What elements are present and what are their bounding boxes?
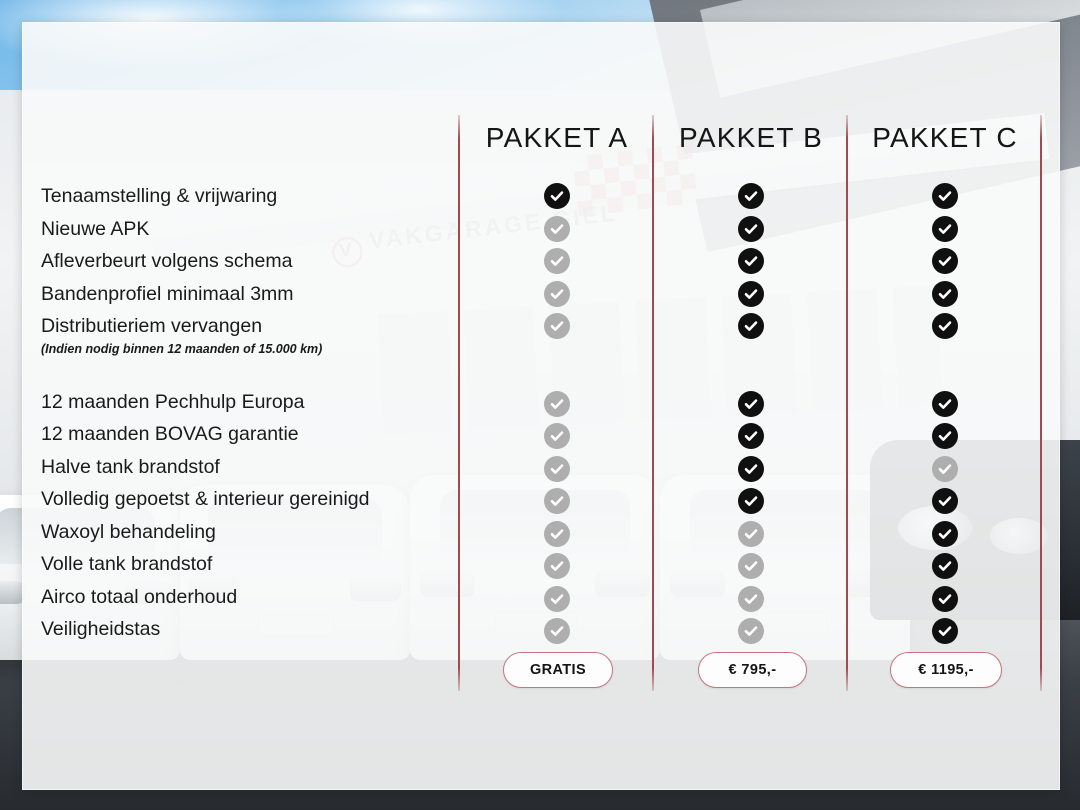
check-included-icon [932, 216, 958, 242]
check-included-icon [932, 553, 958, 579]
check-excluded-icon [544, 281, 570, 307]
check-excluded-icon [544, 586, 570, 612]
check-cell [543, 583, 571, 616]
check-cell [737, 245, 765, 278]
check-cell [737, 180, 765, 213]
check-cell [931, 420, 959, 453]
check-column-a [543, 180, 571, 648]
check-cell [931, 180, 959, 213]
check-included-icon [932, 586, 958, 612]
check-included-icon [932, 391, 958, 417]
check-cell [931, 453, 959, 486]
package-header-c: PAKKET C [831, 122, 1059, 154]
check-excluded-icon [544, 553, 570, 579]
check-included-icon [738, 391, 764, 417]
check-included-icon [932, 313, 958, 339]
column-divider-4 [1040, 115, 1042, 691]
check-included-icon [738, 423, 764, 449]
feature-label: 12 maanden BOVAG garantie [41, 418, 461, 451]
group-separator [41, 357, 461, 386]
note-row-spacer [931, 343, 959, 359]
check-cell [931, 388, 959, 421]
check-cell [543, 615, 571, 648]
check-included-icon [738, 456, 764, 482]
column-divider-2 [652, 115, 654, 691]
check-cell [931, 583, 959, 616]
check-excluded-icon [544, 248, 570, 274]
feature-label: Distributieriem vervangen [41, 310, 461, 343]
group-row-spacer [543, 359, 571, 388]
feature-label: Afleverbeurt volgens schema [41, 245, 461, 278]
check-cell [737, 485, 765, 518]
check-excluded-icon [738, 521, 764, 547]
check-included-icon [738, 216, 764, 242]
check-excluded-icon [544, 521, 570, 547]
check-column-b [737, 180, 765, 648]
check-excluded-icon [738, 553, 764, 579]
check-cell [737, 310, 765, 343]
check-included-icon [544, 183, 570, 209]
check-cell [737, 615, 765, 648]
check-excluded-icon [544, 618, 570, 644]
check-cell [543, 278, 571, 311]
check-cell [543, 180, 571, 213]
check-included-icon [738, 281, 764, 307]
check-cell [931, 485, 959, 518]
check-excluded-icon [932, 456, 958, 482]
check-cell [737, 583, 765, 616]
check-included-icon [932, 521, 958, 547]
check-column-c [931, 180, 959, 648]
check-excluded-icon [544, 488, 570, 514]
check-cell [543, 420, 571, 453]
feature-label: Bandenprofiel minimaal 3mm [41, 278, 461, 311]
feature-list: Tenaamstelling & vrijwaring Nieuwe APK A… [41, 180, 461, 646]
check-included-icon [738, 183, 764, 209]
feature-label: Nieuwe APK [41, 213, 461, 246]
check-cell [737, 550, 765, 583]
check-cell [931, 245, 959, 278]
check-cell [737, 278, 765, 311]
feature-label: Tenaamstelling & vrijwaring [41, 180, 461, 213]
check-cell [543, 485, 571, 518]
check-included-icon [932, 423, 958, 449]
check-included-icon [932, 281, 958, 307]
check-included-icon [932, 488, 958, 514]
check-included-icon [932, 183, 958, 209]
check-cell [931, 550, 959, 583]
check-cell [543, 453, 571, 486]
price-button-c[interactable]: € 1195,- [890, 652, 1002, 688]
check-cell [737, 388, 765, 421]
feature-label: Volledig gepoetst & interieur gereinigd [41, 483, 461, 516]
check-cell [543, 550, 571, 583]
note-row-spacer [737, 343, 765, 359]
check-excluded-icon [544, 216, 570, 242]
check-included-icon [738, 248, 764, 274]
price-button-b[interactable]: € 795,- [698, 652, 807, 688]
note-row-spacer [543, 343, 571, 359]
group-row-spacer [737, 359, 765, 388]
check-cell [931, 213, 959, 246]
column-divider-3 [846, 115, 848, 691]
price-button-a[interactable]: GRATIS [503, 652, 613, 688]
check-cell [931, 615, 959, 648]
check-excluded-icon [544, 423, 570, 449]
group-row-spacer [931, 359, 959, 388]
feature-label: Veiligheidstas [41, 613, 461, 646]
check-included-icon [738, 488, 764, 514]
feature-label: Halve tank brandstof [41, 451, 461, 484]
check-cell [543, 310, 571, 343]
check-excluded-icon [544, 391, 570, 417]
check-cell [737, 213, 765, 246]
check-cell [543, 213, 571, 246]
check-excluded-icon [544, 313, 570, 339]
check-cell [737, 453, 765, 486]
check-excluded-icon [738, 586, 764, 612]
feature-note: (Indien nodig binnen 12 maanden of 15.00… [41, 341, 461, 357]
check-excluded-icon [544, 456, 570, 482]
check-cell [931, 310, 959, 343]
check-cell [543, 388, 571, 421]
feature-label: Volle tank brandstof [41, 548, 461, 581]
check-cell [931, 278, 959, 311]
check-cell [931, 518, 959, 551]
check-included-icon [738, 313, 764, 339]
check-cell [543, 245, 571, 278]
car-headlight-left [0, 581, 25, 604]
check-included-icon [932, 248, 958, 274]
check-cell [737, 420, 765, 453]
check-cell [737, 518, 765, 551]
check-included-icon [932, 618, 958, 644]
screenshot-root: VVAKGARAGE GIEL [0, 0, 1080, 810]
check-excluded-icon [738, 618, 764, 644]
feature-label: Airco totaal onderhoud [41, 581, 461, 614]
feature-label: 12 maanden Pechhulp Europa [41, 386, 461, 419]
check-cell [543, 518, 571, 551]
feature-label: Waxoyl behandeling [41, 516, 461, 549]
